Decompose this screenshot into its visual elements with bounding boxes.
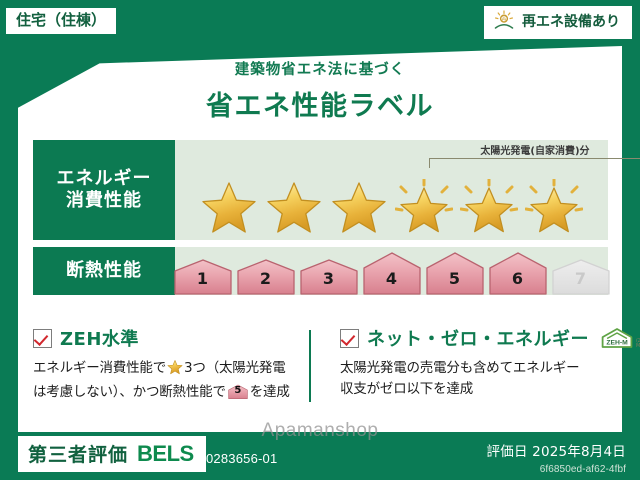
energy-label-line1: エネルギー	[57, 168, 152, 191]
zeh-body-part2: 3つ（太陽光発電	[184, 360, 286, 376]
insulation-level-number: 3	[299, 269, 359, 288]
energy-performance-value: 太陽光発電(自家消費)分	[175, 140, 608, 240]
solar-bracket-line	[429, 158, 640, 168]
star-icon	[200, 179, 258, 235]
label-title-block: 建築物省エネ法に基づく 省エネ性能ラベル	[0, 58, 640, 123]
zeh-standard-title: ZEH水準	[60, 325, 139, 351]
bels-logo-text: BELS	[137, 441, 194, 467]
insulation-level-number: 4	[362, 269, 422, 288]
notes-divider	[309, 330, 311, 402]
zeh-body-part4: を達成	[250, 384, 290, 400]
net-zero-body-part1: 太陽光発電の売電分も含めてエネルギー	[340, 360, 579, 376]
label-subtitle: 建築物省エネ法に基づく	[0, 58, 640, 79]
insulation-level-5: 5	[425, 250, 485, 295]
renewable-badge-label: 再エネ設備あり	[522, 15, 620, 29]
third-party-label: 第三者評価	[28, 440, 128, 467]
insulation-level-7: 7	[551, 257, 611, 295]
bels-badge: 第三者評価 BELS	[18, 436, 206, 472]
house-badge-number: 5	[228, 383, 248, 399]
evaluation-date-value: 2025年8月4日	[532, 444, 626, 460]
zeh-standard-head: ZEH水準	[33, 325, 308, 351]
evaluation-date-label: 評価日	[487, 444, 528, 460]
checkbox-checked-icon	[33, 329, 52, 348]
insulation-level-2: 2	[236, 257, 296, 295]
net-zero-energy-note: ネット・ゼロ・エネルギー ZEH-M (ZEH-M) 太陽光発電の売電分も含めて…	[322, 325, 611, 403]
energy-label-root: 住宅（住棟） 再 再エネ設備あり 建築物省エネ法に基づく 省エネ性能ラベル	[0, 0, 640, 480]
energy-performance-row: エネルギー 消費性能 太陽光発電(自家消費)分	[33, 140, 608, 240]
document-hash: 6f6850ed-af62-4fbf	[540, 464, 626, 475]
star-icon-solar	[525, 179, 583, 235]
solar-bracket-caption: 太陽光発電(自家消費)分	[429, 142, 640, 157]
insulation-level-number: 5	[425, 269, 485, 288]
criteria-notes: ZEH水準 エネルギー消費性能で3つ（太陽光発電は考慮しない）、かつ断熱性能で5…	[33, 325, 611, 403]
net-zero-head: ネット・ゼロ・エネルギー ZEH-M (ZEH-M)	[340, 325, 597, 351]
star-icon	[265, 179, 323, 235]
net-zero-body-part2: 収支がゼロ以下を達成	[340, 381, 473, 397]
insulation-level-3: 3	[299, 257, 359, 295]
svg-text:ZEH-M: ZEH-M	[606, 339, 628, 346]
energy-label-line2: 消費性能	[66, 190, 142, 213]
insulation-level-number: 7	[551, 269, 611, 288]
building-type-label: 住宅（住棟）	[16, 11, 106, 29]
checkbox-checked-icon	[340, 329, 359, 348]
insulation-level-number: 2	[236, 269, 296, 288]
insulation-level-scale: 1 2 3	[175, 247, 608, 295]
performance-rows: エネルギー 消費性能 太陽光発電(自家消費)分	[33, 140, 608, 295]
zeh-body-part3: は考慮しない）、かつ断熱性能で	[33, 384, 226, 400]
net-zero-body: 太陽光発電の売電分も含めてエネルギー収支がゼロ以下を達成	[340, 358, 597, 400]
insulation-level-number: 1	[173, 269, 233, 288]
star-icon-solar	[395, 179, 453, 235]
zeh-m-logo-sub: (ZEH-M)	[636, 339, 640, 351]
solar-bracket-group: 太陽光発電(自家消費)分	[429, 142, 640, 168]
sun-icon: 再	[493, 10, 515, 34]
insulation-level-6: 6	[488, 250, 548, 295]
star-icon-inline	[167, 359, 183, 382]
insulation-performance-row: 断熱性能	[33, 247, 608, 295]
star-rating	[175, 179, 608, 235]
star-icon-solar	[460, 179, 518, 235]
bels-number: 0283656-01	[206, 451, 277, 466]
zeh-body-part1: エネルギー消費性能で	[33, 360, 166, 376]
zeh-m-logo: ZEH-M (ZEH-M)	[599, 325, 640, 351]
building-type-tag: 住宅（住棟）	[6, 8, 116, 34]
renewable-equipment-badge: 再 再エネ設備あり	[484, 6, 632, 39]
net-zero-title: ネット・ゼロ・エネルギー	[367, 325, 589, 351]
zeh-standard-note: ZEH水準 エネルギー消費性能で3つ（太陽光発電は考慮しない）、かつ断熱性能で5…	[33, 325, 322, 403]
insulation-performance-value: 1 2 3	[175, 247, 608, 295]
insulation-label-text: 断熱性能	[66, 260, 142, 283]
evaluation-date: 評価日 2025年8月4日	[487, 440, 626, 460]
energy-performance-label: エネルギー 消費性能	[33, 140, 175, 240]
insulation-level-number: 6	[488, 269, 548, 288]
house-badge-inline: 5	[228, 383, 248, 400]
zeh-standard-body: エネルギー消費性能で3つ（太陽光発電は考慮しない）、かつ断熱性能で5を達成	[33, 358, 308, 403]
insulation-performance-label: 断熱性能	[33, 247, 175, 295]
star-icon	[330, 179, 388, 235]
insulation-level-4: 4	[362, 250, 422, 295]
insulation-level-1: 1	[173, 257, 233, 295]
label-title: 省エネ性能ラベル	[0, 84, 640, 123]
label-footer: 第三者評価 BELS 0283656-01 評価日 2025年8月4日 6f68…	[0, 432, 640, 480]
